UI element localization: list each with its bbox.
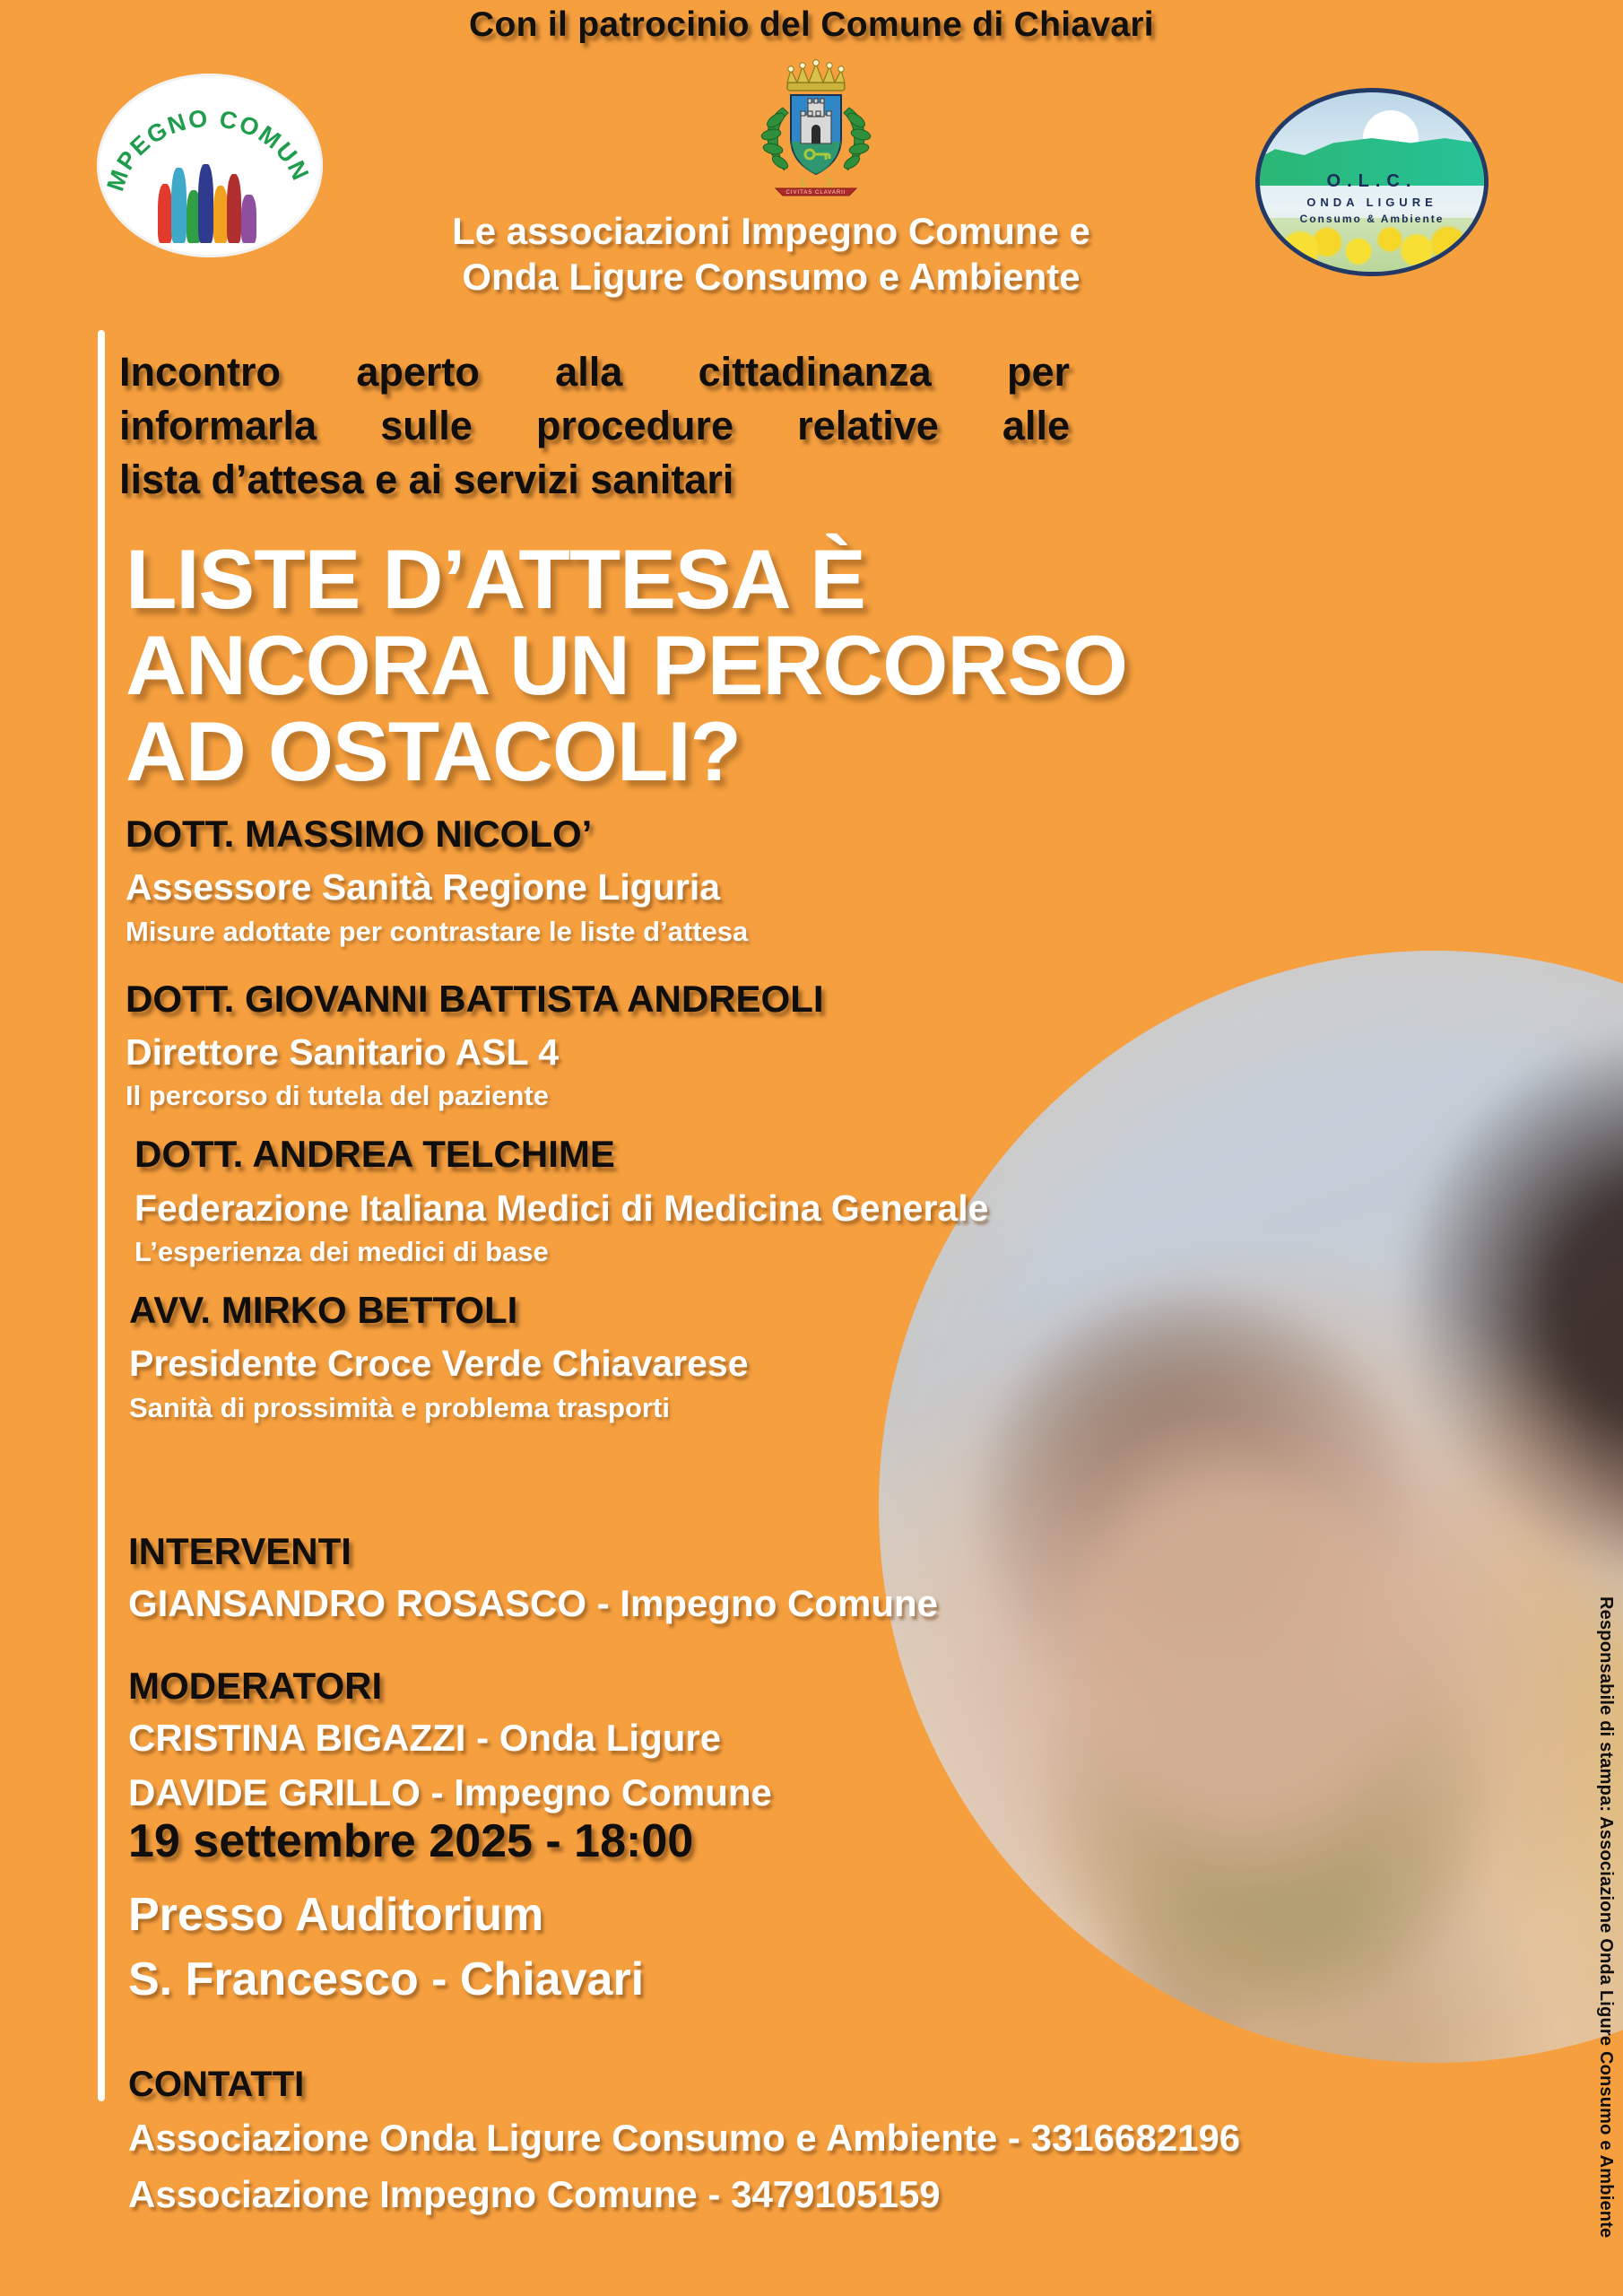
speaker-role: Assessore Sanità Regione Liguria bbox=[126, 864, 1309, 910]
contacts-block: CONTATTI Associazione Onda Ligure Consum… bbox=[128, 2063, 1527, 2220]
speaker-name: DOTT. GIOVANNI BATTISTA ANDREOLI bbox=[126, 977, 1309, 1022]
olc-logo-text: O.L.C. ONDA LIGURE Consumo & Ambiente bbox=[1260, 171, 1484, 225]
moderatori-block: MODERATORI CRISTINA BIGAZZI - Onda Ligur… bbox=[128, 1664, 1204, 1818]
page-title: LISTE D’ATTESA È ANCORA UN PERCORSO AD O… bbox=[126, 536, 1578, 795]
associations-line-2: Onda Ligure Consumo e Ambiente bbox=[296, 254, 1246, 300]
associations-line-1: Le associazioni Impegno Comune e bbox=[296, 208, 1246, 254]
left-vertical-rule bbox=[98, 330, 105, 2101]
speaker-topic: L’esperienza dei medici di base bbox=[135, 1235, 1309, 1270]
patronage-line: Con il patrocinio del Comune di Chiavari bbox=[0, 5, 1623, 45]
speaker-role: Direttore Sanitario ASL 4 bbox=[126, 1029, 1309, 1075]
impegno-comune-logo: IMPEGNO COMUNE bbox=[97, 74, 323, 257]
intro-paragraph: Incontro aperto alla cittadinanza per in… bbox=[119, 345, 1070, 507]
speaker-topic: Sanità di prossimità e problema trasport… bbox=[129, 1391, 1309, 1426]
svg-text:CIVITAS CLAVARII: CIVITAS CLAVARII bbox=[785, 190, 846, 196]
olc-line-2: ONDA LIGURE bbox=[1260, 196, 1484, 209]
olc-flowers-icon bbox=[1260, 218, 1484, 272]
intro-line-1: Incontro aperto alla cittadinanza per bbox=[119, 345, 1070, 399]
moderatori-item: CRISTINA BIGAZZI - Onda Ligure bbox=[128, 1714, 1204, 1763]
olc-line-3: Consumo & Ambiente bbox=[1260, 213, 1484, 225]
speaker-item: DOTT. ANDREA TELCHIME Federazione Italia… bbox=[126, 1132, 1309, 1270]
associations-block: Le associazioni Impegno Comune e Onda Li… bbox=[296, 208, 1246, 300]
logo-people-icon bbox=[156, 147, 269, 243]
headline-line-2: ANCORA UN PERCORSO bbox=[126, 622, 1578, 709]
poster-canvas: Con il patrocinio del Comune di Chiavari… bbox=[0, 0, 1623, 2296]
speakers-list: DOTT. MASSIMO NICOLO’ Assessore Sanità R… bbox=[126, 812, 1309, 1443]
venue-line-2: S. Francesco - Chiavari bbox=[128, 1948, 1025, 2013]
comune-chiavari-crest-icon: CIVITAS CLAVARII bbox=[749, 56, 883, 199]
speaker-item: AVV. MIRKO BETTOLI Presidente Croce Verd… bbox=[126, 1288, 1309, 1426]
speaker-item: DOTT. MASSIMO NICOLO’ Assessore Sanità R… bbox=[126, 812, 1309, 950]
speaker-name: DOTT. MASSIMO NICOLO’ bbox=[126, 812, 1309, 857]
moderatori-item: DAVIDE GRILLO - Impegno Comune bbox=[128, 1769, 1204, 1818]
interventi-block: INTERVENTI GIANSANDRO ROSASCO - Impegno … bbox=[128, 1529, 1204, 1629]
contact-row: Associazione Onda Ligure Consumo e Ambie… bbox=[128, 2113, 1527, 2162]
event-venue: Presso Auditorium S. Francesco - Chiavar… bbox=[128, 1883, 1025, 2013]
contact-row: Associazione Impegno Comune - 3479105159 bbox=[128, 2170, 1527, 2219]
moderatori-label: MODERATORI bbox=[128, 1664, 1204, 1709]
speaker-role: Presidente Croce Verde Chiavarese bbox=[129, 1340, 1309, 1387]
interventi-label: INTERVENTI bbox=[128, 1529, 1204, 1574]
intro-line-2: informarla sulle procedure relative alle bbox=[119, 399, 1070, 453]
speaker-name: AVV. MIRKO BETTOLI bbox=[129, 1288, 1309, 1333]
event-datetime: 19 settembre 2025 - 18:00 bbox=[128, 1813, 693, 1869]
venue-line-1: Presso Auditorium bbox=[128, 1883, 1025, 1948]
contacts-label: CONTATTI bbox=[128, 2063, 1527, 2106]
intro-line-3: lista d’attesa e ai servizi sanitari bbox=[119, 453, 1070, 507]
olc-line-1: O.L.C. bbox=[1260, 171, 1484, 192]
speaker-topic: Misure adottate per contrastare le liste… bbox=[126, 915, 1309, 950]
headline-line-1: LISTE D’ATTESA È bbox=[126, 536, 1578, 622]
print-credit: Responsabile di stampa: Associazione Ond… bbox=[1595, 1596, 1616, 2238]
speaker-name: DOTT. ANDREA TELCHIME bbox=[135, 1132, 1309, 1177]
speaker-role: Federazione Italiana Medici di Medicina … bbox=[135, 1185, 1309, 1231]
olc-logo: O.L.C. ONDA LIGURE Consumo & Ambiente bbox=[1255, 88, 1488, 276]
speaker-item: DOTT. GIOVANNI BATTISTA ANDREOLI Diretto… bbox=[126, 977, 1309, 1115]
interventi-item: GIANSANDRO ROSASCO - Impegno Comune bbox=[128, 1579, 1204, 1629]
speaker-topic: Il percorso di tutela del paziente bbox=[126, 1079, 1309, 1114]
headline-line-3: AD OSTACOLI? bbox=[126, 709, 1578, 795]
